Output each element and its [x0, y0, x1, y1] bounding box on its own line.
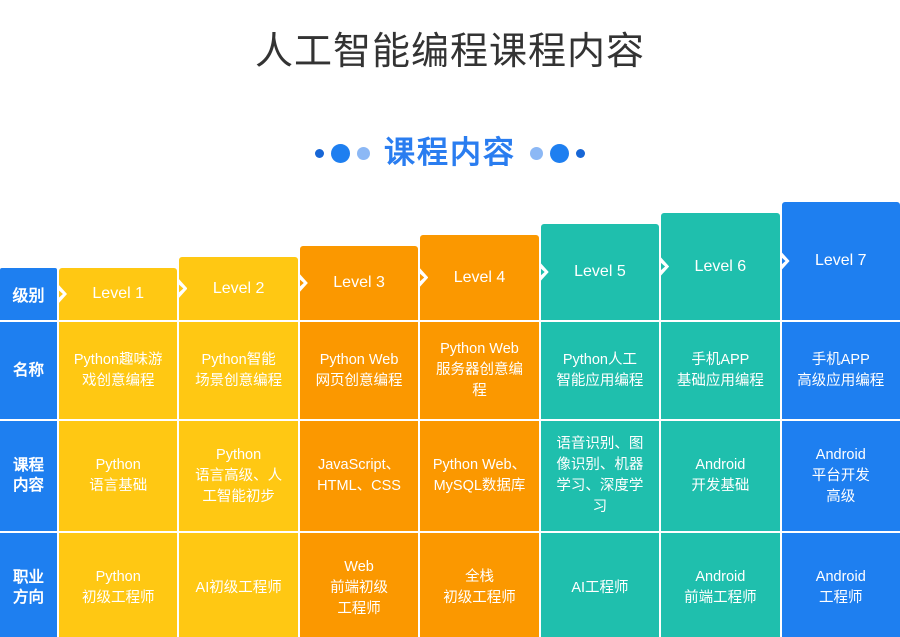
column-header-level-2[interactable]: Level 2 — [179, 257, 297, 320]
dot-medium-light-icon — [530, 147, 543, 160]
chevron-right-icon — [299, 273, 308, 293]
table-cell-name-1: Python趣味游 戏创意编程 — [59, 322, 177, 419]
column-header-label: Level 7 — [815, 252, 867, 270]
table-cell-career-4: 全栈 初级工程师 — [420, 533, 538, 637]
page-root: 人工智能编程课程内容 课程内容 级别 Level 1 — [0, 0, 900, 637]
cell-text: JavaScript、 HTML、CSS — [317, 455, 401, 497]
chevron-right-icon — [58, 284, 67, 304]
table-cell-career-2: AI初级工程师 — [179, 533, 297, 637]
dot-small-dark-icon — [315, 149, 324, 158]
column-header-label: Level 1 — [92, 285, 144, 303]
cell-text: Python智能 场景创意编程 — [195, 350, 282, 392]
cell-text: Python 语言高级、人 工智能初步 — [195, 445, 282, 508]
curriculum-grid: 级别 Level 1 Level 2 Level 3 Level 4 Level… — [0, 200, 900, 637]
dot-small-dark-icon — [576, 149, 585, 158]
cell-text: Python 语言基础 — [89, 455, 147, 497]
table-cell-name-7: 手机APP 高级应用编程 — [782, 322, 900, 419]
row-label-text: 名称 — [13, 361, 44, 381]
cell-text: Python人工 智能应用编程 — [556, 350, 643, 392]
dot-medium-light-icon — [357, 147, 370, 160]
table-cell-career-1: Python 初级工程师 — [59, 533, 177, 637]
column-header-label: Level 2 — [213, 280, 265, 298]
dot-group-right — [530, 144, 585, 163]
row-label-content: 课程 内容 — [0, 421, 57, 531]
table-cell-name-2: Python智能 场景创意编程 — [179, 322, 297, 419]
corner-label-text: 级别 — [12, 282, 44, 306]
cell-text: Python趣味游 戏创意编程 — [74, 350, 163, 392]
chevron-right-icon — [781, 251, 790, 271]
row-label-text: 课程 内容 — [13, 456, 44, 496]
table-cell-content-6: Android 开发基础 — [661, 421, 779, 531]
dot-group-left — [315, 144, 370, 163]
table-cell-career-3: Web 前端初级 工程师 — [300, 533, 418, 637]
cell-text: Web 前端初级 工程师 — [330, 557, 388, 620]
table-cell-content-1: Python 语言基础 — [59, 421, 177, 531]
table-cell-career-7: Android 工程师 — [782, 533, 900, 637]
table-cell-name-5: Python人工 智能应用编程 — [541, 322, 659, 419]
chevron-right-icon — [540, 262, 549, 282]
table-cell-career-5: AI工程师 — [541, 533, 659, 637]
chevron-right-icon — [178, 279, 187, 299]
table-cell-content-3: JavaScript、 HTML、CSS — [300, 421, 418, 531]
cell-text: Android 平台开发 高级 — [812, 445, 870, 508]
cell-text: 手机APP 高级应用编程 — [797, 350, 884, 392]
table-cell-name-4: Python Web 服务器创意编 程 — [420, 322, 538, 419]
cell-text: Python Web、 MySQL数据库 — [433, 455, 526, 497]
section-subtitle: 课程内容 — [384, 132, 516, 174]
column-header-level-7[interactable]: Level 7 — [782, 202, 900, 320]
column-header-level-5[interactable]: Level 5 — [541, 224, 659, 320]
cell-text: Android 前端工程师 — [684, 567, 757, 609]
dot-large-icon — [331, 144, 350, 163]
table-cell-content-5: 语音识别、图 像识别、机器 学习、深度学 习 — [541, 421, 659, 531]
chevron-right-icon — [660, 257, 669, 277]
table-cell-content-4: Python Web、 MySQL数据库 — [420, 421, 538, 531]
column-header-label: Level 4 — [454, 269, 506, 287]
table-corner-label: 级别 — [0, 268, 57, 320]
row-label-career: 职业 方向 — [0, 533, 57, 637]
cell-text: Python Web 网页创意编程 — [316, 350, 403, 392]
table-cell-career-6: Android 前端工程师 — [661, 533, 779, 637]
column-header-label: Level 6 — [695, 258, 747, 276]
column-header-label: Level 5 — [574, 263, 626, 281]
cell-text: 全栈 初级工程师 — [443, 567, 516, 609]
table-cell-content-2: Python 语言高级、人 工智能初步 — [179, 421, 297, 531]
column-header-level-6[interactable]: Level 6 — [661, 213, 779, 320]
subtitle-row: 课程内容 — [0, 132, 900, 174]
row-label-name: 名称 — [0, 322, 57, 419]
page-title: 人工智能编程课程内容 — [0, 27, 900, 77]
column-header-level-3[interactable]: Level 3 — [300, 246, 418, 320]
cell-text: Android 开发基础 — [691, 455, 749, 497]
column-header-level-4[interactable]: Level 4 — [420, 235, 538, 320]
table-cell-name-6: 手机APP 基础应用编程 — [661, 322, 779, 419]
cell-text: AI初级工程师 — [196, 578, 282, 599]
curriculum-table: 级别 Level 1 Level 2 Level 3 Level 4 Level… — [0, 200, 900, 637]
cell-text: Python 初级工程师 — [82, 567, 155, 609]
cell-text: Python Web 服务器创意编 程 — [436, 339, 523, 402]
column-header-label: Level 3 — [333, 274, 385, 292]
cell-text: 语音识别、图 像识别、机器 学习、深度学 习 — [556, 434, 643, 518]
table-cell-name-3: Python Web 网页创意编程 — [300, 322, 418, 419]
chevron-right-icon — [419, 268, 428, 288]
cell-text: Android 工程师 — [816, 567, 866, 609]
table-cell-content-7: Android 平台开发 高级 — [782, 421, 900, 531]
dot-large-icon — [550, 144, 569, 163]
cell-text: 手机APP 基础应用编程 — [677, 350, 764, 392]
column-header-level-1[interactable]: Level 1 — [59, 268, 177, 320]
cell-text: AI工程师 — [571, 578, 628, 599]
row-label-text: 职业 方向 — [13, 568, 44, 608]
